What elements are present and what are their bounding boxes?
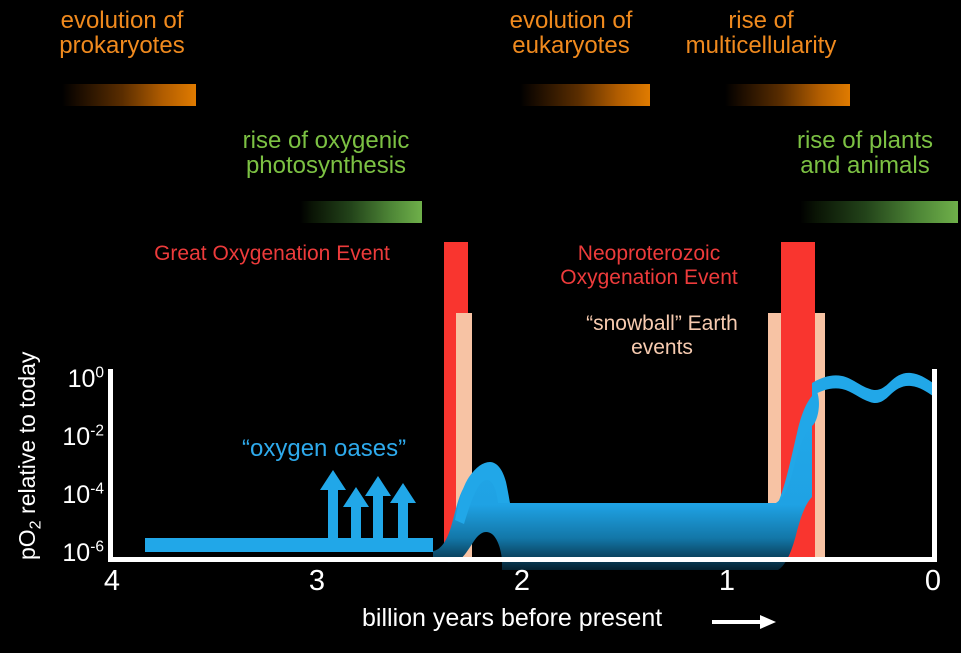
x-tick-0: 0 [913,565,953,598]
y-axis-label-suffix: relative to today [14,352,40,521]
x-axis-line [108,557,937,562]
y-tick-mantissa: 10 [62,423,90,451]
y-tick-1e0: 100 [30,365,104,394]
y-tick-mantissa: 10 [62,539,90,567]
oxygen-oasis-arrows [320,470,416,540]
y-tick-exponent: -6 [90,539,104,556]
y-axis-label-prefix: pO [14,529,40,560]
y-tick-1e-2: 10-2 [30,423,104,452]
oxygen-curve-band [0,0,961,653]
x-axis-arrow-icon [712,612,778,632]
y-tick-mantissa: 10 [62,481,90,509]
oxygen-history-figure: evolution of prokaryotes evolution of eu… [0,0,961,653]
y-tick-exponent: -4 [90,481,104,498]
x-tick-4: 4 [92,565,132,598]
annotation-oxygen-oases: “oxygen oases” [242,435,406,463]
y-tick-1e-6: 10-6 [30,539,104,568]
x-tick-2: 2 [502,565,542,598]
y-axis-label: pO2 relative to today [14,352,41,560]
y-axis-label-subscript: 2 [27,520,45,529]
y-axis-line [108,369,113,561]
y-tick-exponent: 0 [95,365,104,382]
x-tick-1: 1 [707,565,747,598]
plot-right-spine [932,369,937,561]
y-tick-1e-4: 10-4 [30,481,104,510]
x-axis-label: billion years before present [362,604,662,633]
x-tick-3: 3 [297,565,337,598]
x-axis-label-text: billion years before present [362,604,662,632]
y-tick-mantissa: 10 [68,365,96,393]
y-tick-exponent: -2 [90,423,104,440]
